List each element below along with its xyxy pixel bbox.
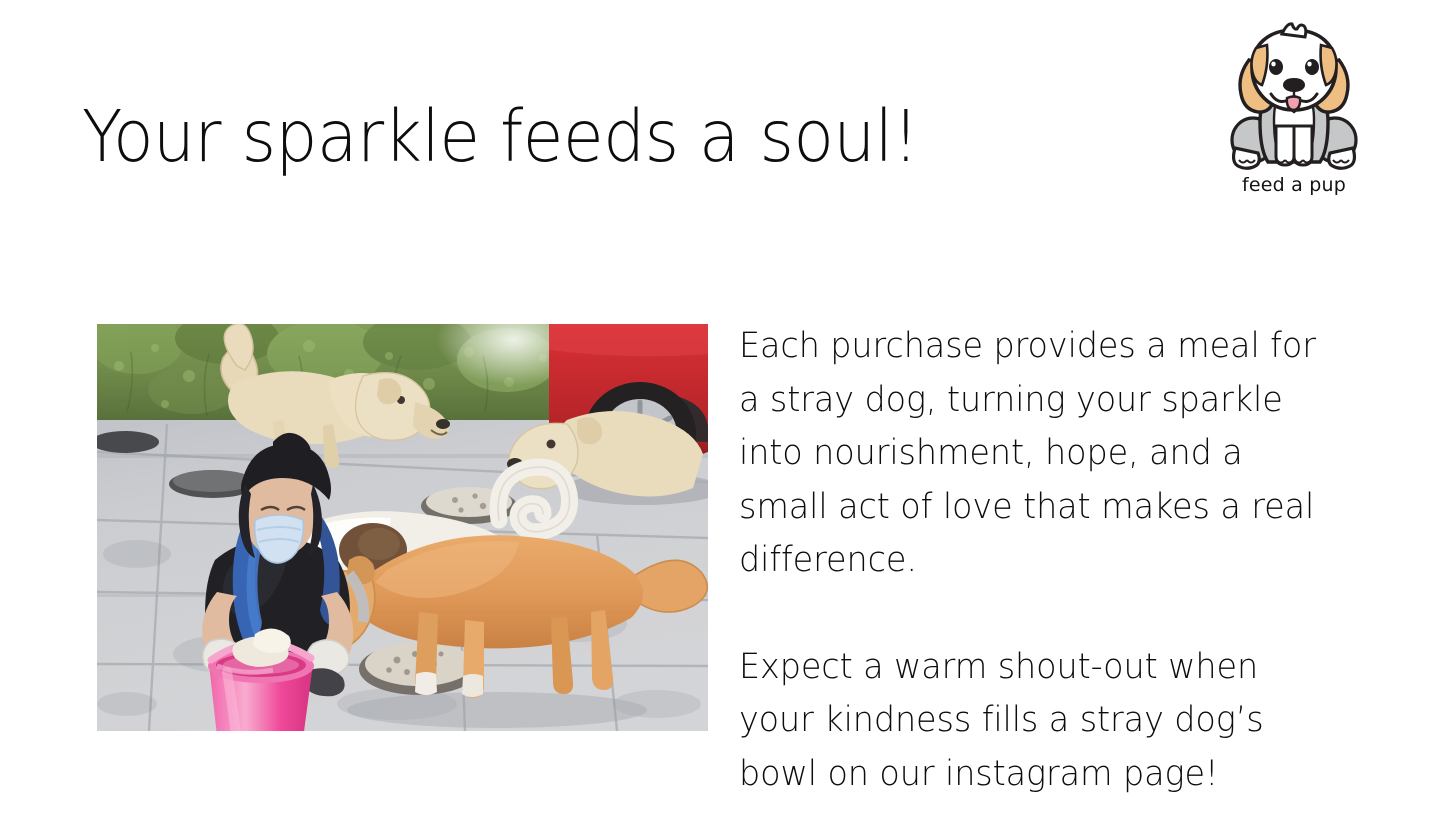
page-title: Your sparkle feeds a soul! xyxy=(82,97,919,177)
logo-caption: feed a pup xyxy=(1227,173,1361,197)
body-paragraph-1: Each purchase provides a meal for a stra… xyxy=(739,320,1336,588)
body-paragraph-2: Expect a warm shout-out when your kindne… xyxy=(739,641,1336,802)
puppy-logo-icon xyxy=(1227,22,1361,177)
slide-canvas: Your sparkle feeds a soul! xyxy=(0,0,1445,813)
brand-logo: feed a pup xyxy=(1227,22,1361,204)
stray-dogs-feeding-photo xyxy=(97,324,708,731)
body-copy: Each purchase provides a meal for a stra… xyxy=(739,320,1364,801)
